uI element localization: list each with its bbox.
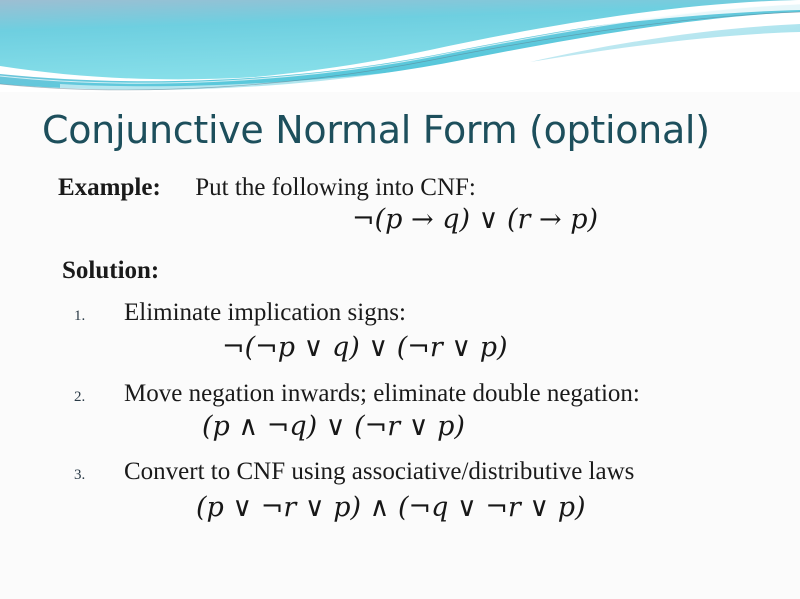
wave-graphic bbox=[0, 0, 800, 92]
example-line: Example: Put the following into CNF: bbox=[58, 173, 476, 203]
step-formula: (p ∧ ¬q) ∨ (¬r ∨ p) bbox=[202, 411, 465, 443]
step-number: 1. bbox=[74, 308, 85, 325]
step-text: Eliminate implication signs: bbox=[124, 298, 406, 328]
step-number: 3. bbox=[74, 467, 85, 484]
step-number: 2. bbox=[74, 389, 85, 406]
example-label: Example bbox=[58, 174, 152, 201]
page-title: Conjunctive Normal Form (optional) bbox=[42, 107, 710, 153]
decorative-wave-banner bbox=[0, 0, 800, 92]
solution-label: Solution: bbox=[62, 256, 159, 286]
example-formula: ¬(p → q) ∨ (r → p) bbox=[352, 204, 598, 236]
step-text: Convert to CNF using associative/distrib… bbox=[124, 457, 634, 487]
presentation-slide: Conjunctive Normal Form (optional) Examp… bbox=[0, 0, 800, 599]
step-formula: (p ∨ ¬r ∨ p) ∧ (¬q ∨ ¬r ∨ p) bbox=[196, 492, 586, 524]
step-formula: ¬(¬p ∨ q) ∨ (¬r ∨ p) bbox=[222, 332, 508, 364]
example-colon: : bbox=[152, 174, 160, 201]
example-prompt: Put the following into CNF: bbox=[195, 174, 476, 201]
step-text: Move negation inwards; eliminate double … bbox=[124, 379, 640, 409]
